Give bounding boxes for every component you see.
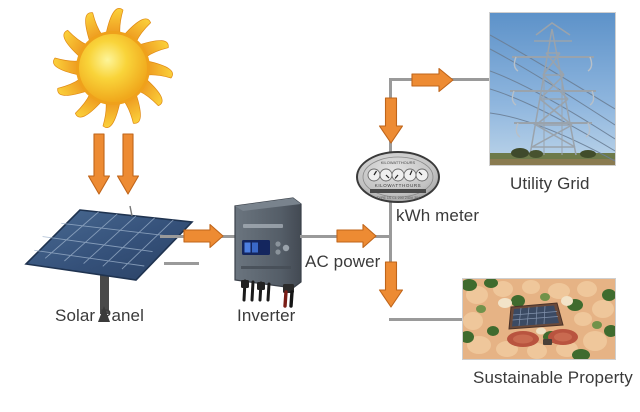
arrow-ac-power (337, 224, 377, 248)
inverter-label: Inverter (237, 306, 295, 326)
solar-panel-icon (24, 196, 199, 324)
svg-text:KILOWATTHOURS: KILOWATTHOURS (381, 160, 416, 165)
wire-junction-to-property (389, 318, 467, 321)
arrow-to-utility-grid (412, 68, 454, 92)
sunlight-arrow-right (117, 134, 139, 196)
kwh-meter-label: kWh meter (396, 206, 479, 226)
svg-text:TYPE 1S CL 200 240V 3W: TYPE 1S CL 200 240V 3W (376, 196, 420, 200)
arrow-to-sustainable-property (379, 262, 403, 308)
solar-panel-label: Solar Panel (55, 306, 144, 326)
sunlight-arrow-left (88, 134, 110, 196)
arrow-to-kwh-meter (379, 98, 403, 144)
sun-icon (48, 8, 178, 133)
ac-power-label: AC power (305, 252, 380, 272)
diagram-canvas: Solar Panel (0, 0, 640, 412)
inverter-icon (231, 196, 311, 308)
svg-text:KILOWATTHOURS: KILOWATTHOURS (375, 183, 422, 188)
sustainable-property-label: Sustainable Property (473, 368, 633, 388)
electric-meter-icon: KILOWATTHOURS KILOWATTHOURS TYPE 1S CL 2… (356, 151, 440, 203)
sustainable-property-photo (462, 278, 616, 360)
arrow-panel-to-inverter (184, 224, 224, 248)
utility-grid-photo (489, 12, 616, 166)
utility-grid-label: Utility Grid (510, 174, 590, 194)
